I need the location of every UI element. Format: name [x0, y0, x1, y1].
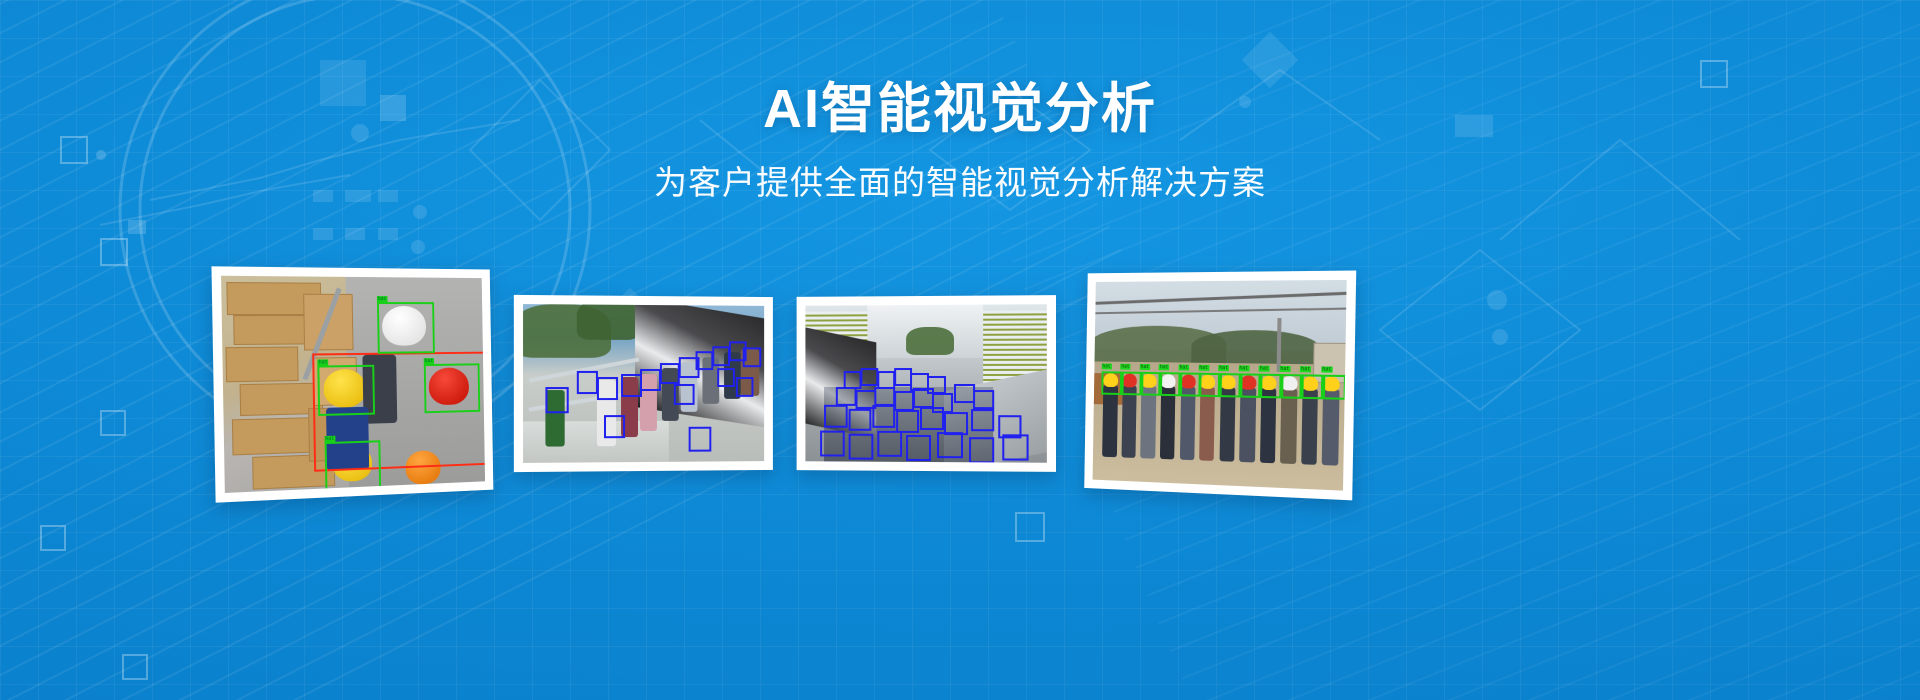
detection-label: hat [1140, 364, 1150, 370]
detection-box [860, 368, 878, 386]
detection-box [1321, 374, 1347, 400]
detection-box [848, 433, 873, 459]
detection-box [597, 377, 618, 400]
detection-box [318, 365, 375, 416]
worker [1260, 388, 1277, 463]
detection-box [640, 369, 661, 390]
worker [1102, 385, 1117, 457]
worker [1322, 389, 1339, 465]
worker [1301, 389, 1318, 465]
detection-box [717, 368, 735, 388]
detection-box [659, 363, 680, 384]
gallery-card-footbridge[interactable] [514, 295, 773, 472]
detection-box [824, 405, 847, 428]
detection-label: hat [424, 358, 434, 364]
detection-box [877, 430, 903, 456]
detection-box [920, 407, 943, 430]
detection-label: hat [324, 435, 335, 441]
detection-box [377, 302, 435, 354]
outdoor-scene: hat hat hat hat hat hat hat hat [1093, 280, 1347, 491]
station-scene [805, 304, 1046, 462]
tree-foliage [906, 327, 954, 355]
detection-box [913, 388, 934, 408]
worker [1280, 388, 1297, 463]
detection-label: hat [318, 359, 329, 365]
detection-label: hat [1259, 365, 1270, 371]
detection-box [743, 348, 761, 368]
detection-label: hat [1159, 364, 1170, 370]
detection-label: hat [1279, 365, 1290, 371]
detection-label: hat [1120, 363, 1130, 369]
footbridge-scene [523, 304, 764, 463]
detection-box [874, 387, 895, 407]
detection-box [894, 391, 915, 411]
detection-box [1003, 434, 1029, 460]
warehouse-scene: hat hat hat hat [221, 276, 485, 493]
detection-box [604, 415, 625, 438]
hero-banner: AI智能视觉分析 为客户提供全面的智能视觉分析解决方案 [0, 0, 1920, 700]
detection-box [894, 368, 912, 386]
detection-box [820, 430, 845, 456]
detection-label: hat [1300, 366, 1311, 372]
detection-box [695, 351, 713, 371]
detection-box [688, 427, 711, 451]
worker [1239, 388, 1256, 462]
station-photo [805, 304, 1046, 462]
detection-box [621, 374, 642, 397]
detection-box [971, 409, 995, 432]
worker [1179, 386, 1195, 459]
detection-box [836, 387, 857, 407]
outdoor-photo: hat hat hat hat hat hat hat hat [1093, 280, 1347, 491]
detection-label: hat [377, 296, 388, 302]
gallery-card-station[interactable] [797, 295, 1056, 472]
detection-box [848, 408, 871, 431]
detection-label: hat [1198, 364, 1209, 370]
detection-label: hat [1101, 363, 1111, 369]
detection-box [674, 384, 695, 405]
detection-box [736, 377, 754, 397]
detection-box [872, 405, 895, 428]
detection-box [545, 387, 569, 413]
warehouse-photo: hat hat hat hat [221, 276, 485, 493]
worker [1141, 386, 1157, 459]
detection-box [577, 371, 598, 394]
footbridge-photo [523, 304, 764, 463]
worker [1199, 387, 1215, 461]
worker [1160, 386, 1176, 459]
detection-label: hat [1178, 364, 1189, 370]
showcase-gallery: hat hat hat hat [0, 0, 1920, 700]
detection-box [973, 390, 994, 410]
detection-box [712, 346, 730, 366]
worker [1219, 387, 1235, 461]
detection-box [324, 440, 381, 490]
detection-box [954, 384, 975, 404]
detection-box [906, 435, 932, 461]
detection-box [937, 432, 963, 458]
gallery-card-outdoor[interactable]: hat hat hat hat hat hat hat hat [1084, 270, 1356, 500]
hillside [1191, 330, 1319, 364]
detection-label: hat [1321, 366, 1332, 372]
detection-box [424, 364, 481, 414]
detection-label: hat [1238, 365, 1249, 371]
carton [225, 347, 299, 382]
detection-label: hat [1218, 365, 1229, 371]
detection-box [969, 437, 995, 463]
tree-foliage [577, 304, 640, 339]
gallery-card-warehouse[interactable]: hat hat hat hat [211, 266, 493, 502]
worker [1121, 385, 1137, 457]
